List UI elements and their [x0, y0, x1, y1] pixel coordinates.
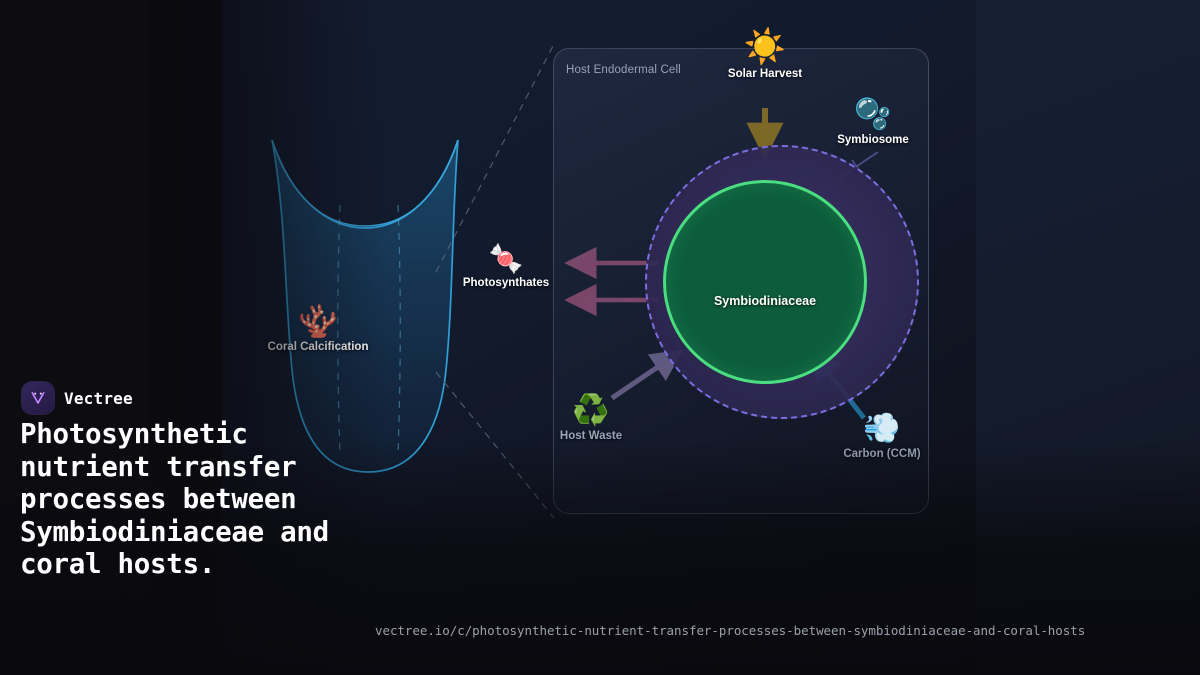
vectree-v-logo-icon — [22, 382, 54, 414]
node-host-waste: ♻️ Host Waste — [546, 396, 636, 444]
node-coral-calcification: 🪸 Coral Calcification — [255, 305, 381, 355]
symbiodiniaceae-label: Symbiodiniaceae — [663, 294, 867, 308]
node-label-host-waste: Host Waste — [560, 430, 622, 442]
dashing-away-icon: 💨 — [836, 414, 928, 444]
page-title: Photosynthetic nutrient transfer process… — [20, 418, 390, 581]
node-label-photosynthates: Photosynthates — [463, 277, 549, 289]
bubbles-icon: 🫧 — [820, 100, 926, 130]
node-label-coral-calcification: Coral Calcification — [268, 341, 369, 353]
node-solar-harvest: ☀️ Solar Harvest — [700, 30, 830, 82]
sun-icon: ☀️ — [700, 30, 830, 64]
node-label-carbon-ccm: Carbon (CCM) — [843, 448, 920, 460]
brand-name: Vectree — [64, 389, 133, 408]
node-symbiosome: 🫧 Symbiosome — [820, 100, 926, 148]
recycle-icon: ♻️ — [546, 396, 636, 426]
panel-title: Host Endodermal Cell — [566, 64, 681, 76]
candy-icon: 🍬 — [442, 245, 570, 273]
brand-lockup: Vectree — [22, 382, 133, 414]
node-photosynthates: 🍬 Photosynthates — [442, 245, 570, 291]
symbiodiniaceae-cell — [663, 180, 867, 384]
node-label-symbiosome: Symbiosome — [837, 134, 909, 146]
node-label-solar-harvest: Solar Harvest — [728, 68, 802, 80]
source-url: vectree.io/c/photosynthetic-nutrient-tra… — [375, 623, 1085, 638]
scene-root: Host Endodermal Cell Symbiodiniaceae ☀️ … — [0, 0, 1200, 675]
node-carbon-ccm: 💨 Carbon (CCM) — [836, 414, 928, 462]
coral-icon: 🪸 — [255, 305, 381, 337]
vectree-glyph — [28, 388, 48, 408]
